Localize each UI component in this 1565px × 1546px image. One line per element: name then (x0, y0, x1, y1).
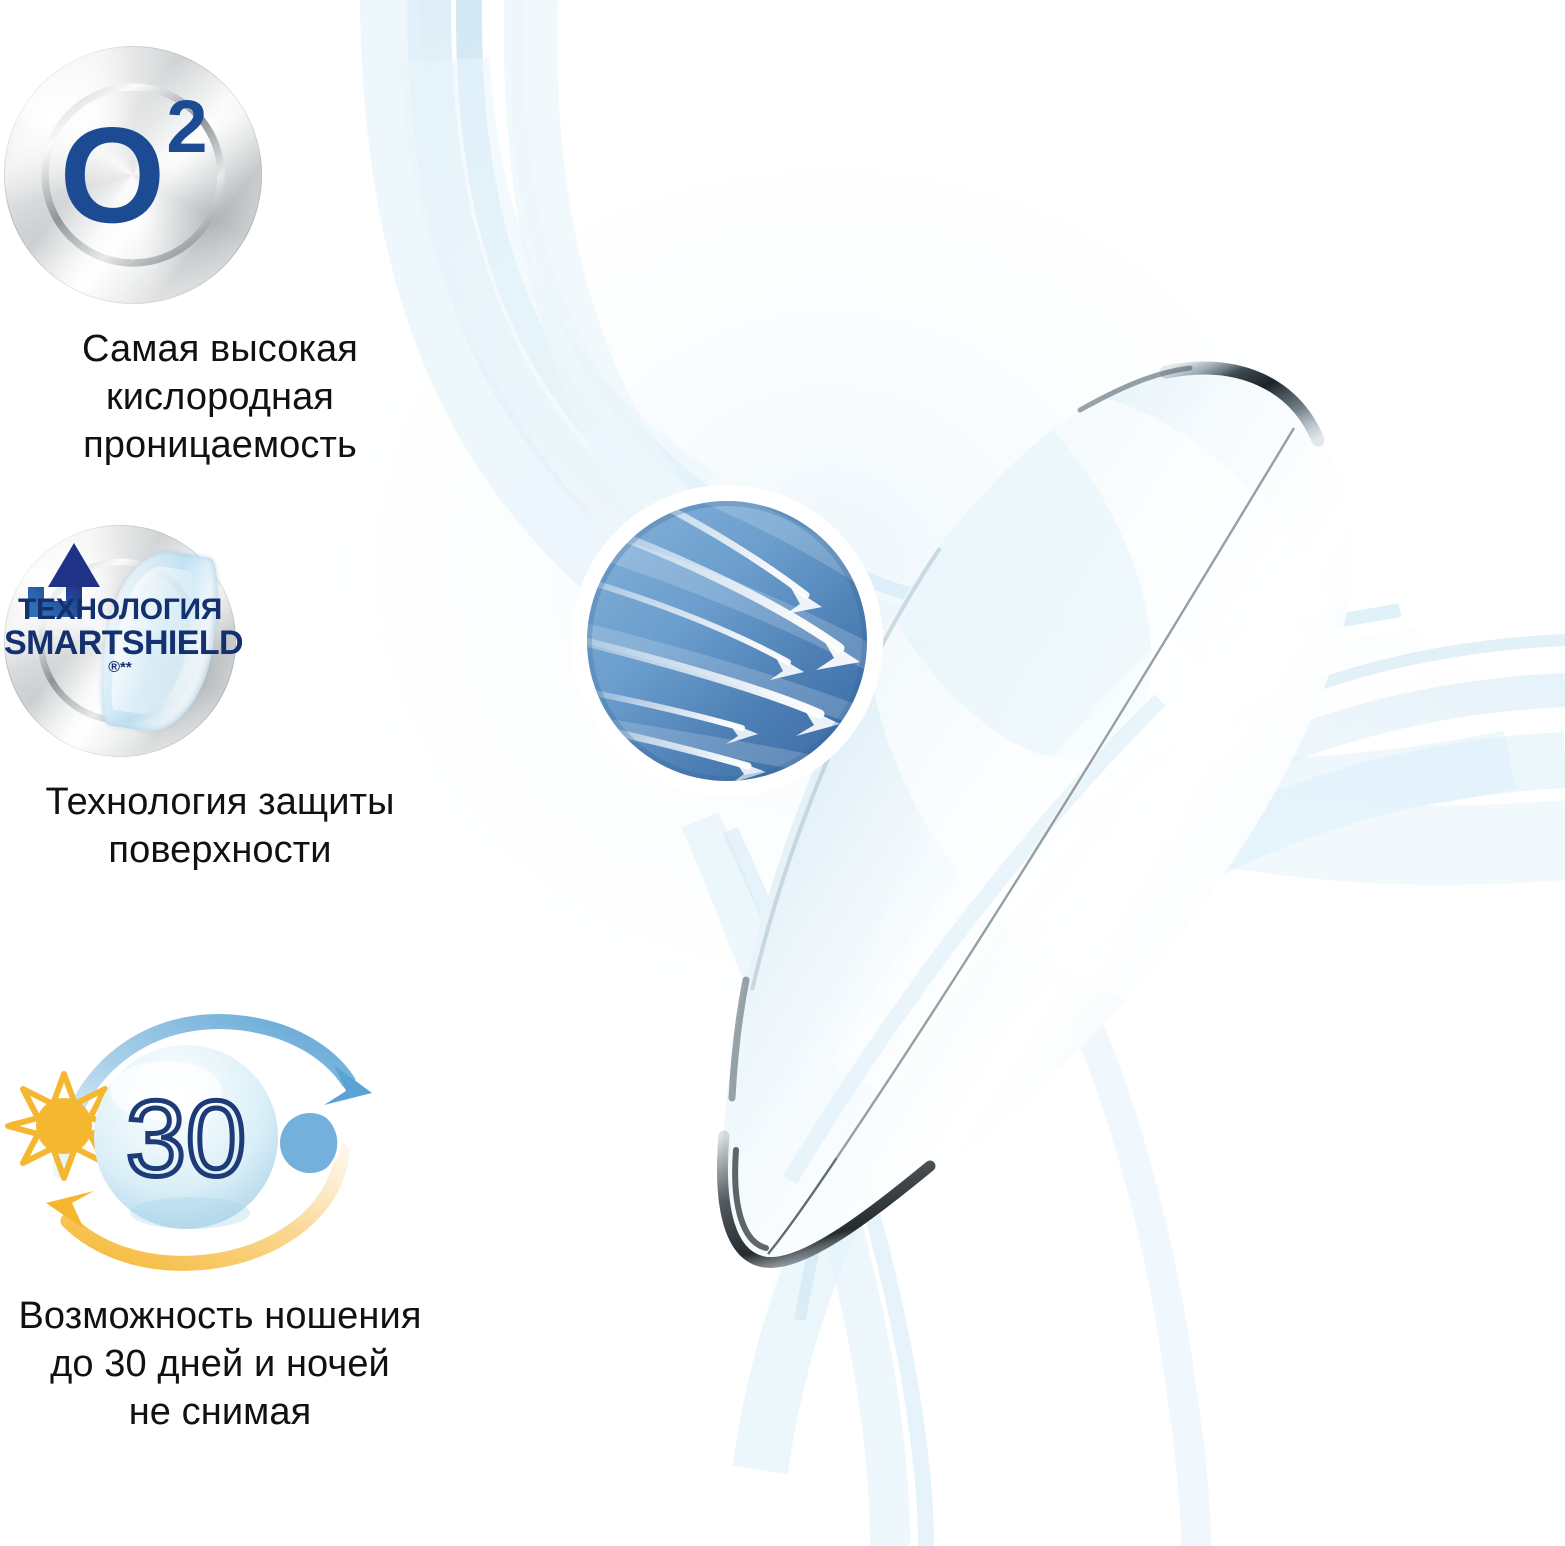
o2-label: O2 (4, 46, 262, 304)
smartshield-text: ТЕХНОЛОГИЯ SMARTSHIELD®** (4, 595, 236, 683)
moon-icon (280, 1113, 341, 1173)
smartshield-line2: SMARTSHIELD (4, 626, 243, 661)
feature-wear-schedule: 30 Возможность ношения до 30 дней и ноче… (0, 975, 440, 1437)
feature-wear-caption: Возможность ношения до 30 дней и ночей н… (0, 1293, 440, 1437)
o2-superscript: 2 (166, 90, 206, 164)
smartshield-badge-icon: ТЕХНОЛОГИЯ SMARTSHIELD®** (4, 525, 236, 757)
o2-main-letter: O (60, 107, 165, 243)
asterisk-marks: ** (120, 659, 132, 676)
feature-smartshield: ТЕХНОЛОГИЯ SMARTSHIELD®** Технология защ… (0, 525, 440, 875)
days-sphere: 30 (94, 1045, 278, 1229)
feature-oxygen-caption: Самая высокая кислородная проницаемость (0, 326, 440, 470)
registered-mark: ® (108, 659, 120, 676)
feature-oxygen: O2 Самая высокая кислородная проницаемос… (0, 46, 440, 470)
o2-badge-icon: O2 (4, 46, 262, 304)
feature-smartshield-caption: Технология защиты поверхности (0, 779, 440, 875)
days-value: 30 (126, 1078, 246, 1199)
poster-canvas: O2 Самая высокая кислородная проницаемос… (0, 0, 1565, 1546)
smartshield-line2-row: SMARTSHIELD®** (4, 626, 236, 683)
smartshield-line1: ТЕХНОЛОГИЯ (4, 595, 236, 626)
day-night-cycle-graphic: 30 (0, 975, 390, 1275)
thirty-days-cycle-icon: 30 (0, 975, 390, 1275)
